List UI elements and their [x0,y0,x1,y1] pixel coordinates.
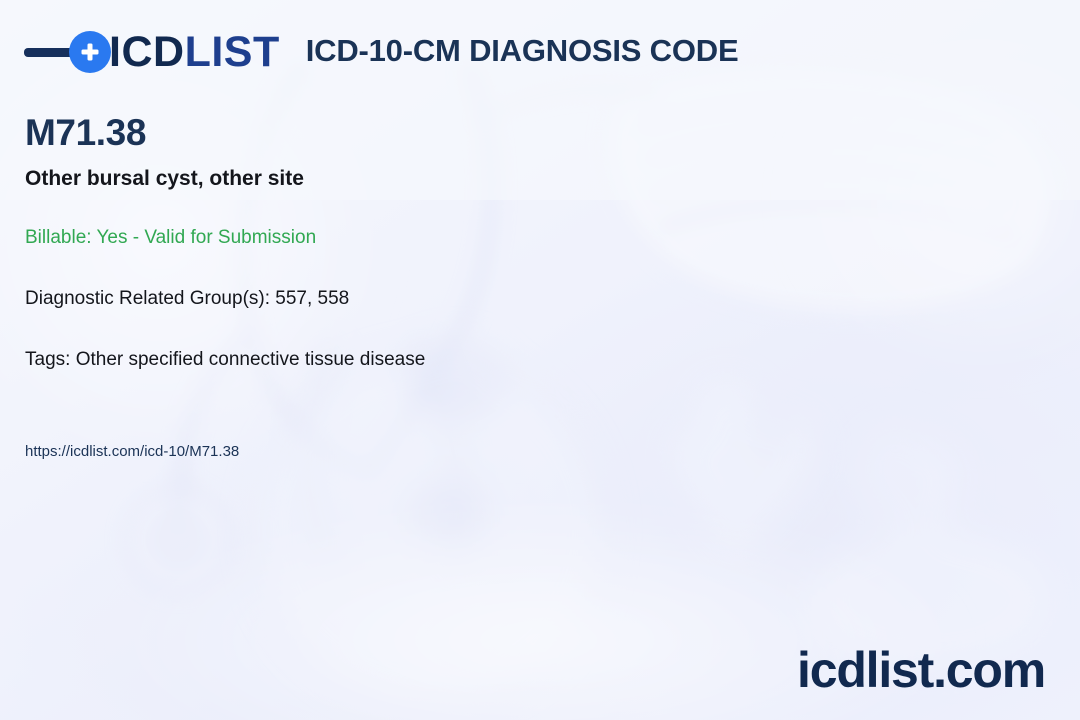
diagnosis-description: Other bursal cyst, other site [25,166,805,192]
source-url[interactable]: https://icdlist.com/icd-10/M71.38 [25,443,805,462]
tags-line: Tags: Other specified connective tissue … [25,348,805,372]
code-details: M71.38 Other bursal cyst, other site Bil… [25,112,805,462]
page-header: ICDLIST ICD-10-CM DIAGNOSIS CODE [24,24,738,80]
icdlist-logo[interactable]: ICDLIST [24,24,280,80]
page-title: ICD-10-CM DIAGNOSIS CODE [306,33,739,71]
logo-word-icd: ICD [109,28,185,76]
logo-wordmark: ICDLIST [109,31,280,74]
logo-word-list: LIST [185,28,280,76]
plus-icon [69,31,111,73]
footer-brand: icdlist.com [797,645,1045,695]
diagnosis-code: M71.38 [25,112,805,155]
icd-code-card: ICDLIST ICD-10-CM DIAGNOSIS CODE M71.38 … [0,0,1080,720]
diagnostic-related-groups: Diagnostic Related Group(s): 557, 558 [25,287,805,311]
billable-status: Billable: Yes - Valid for Submission [25,226,805,250]
